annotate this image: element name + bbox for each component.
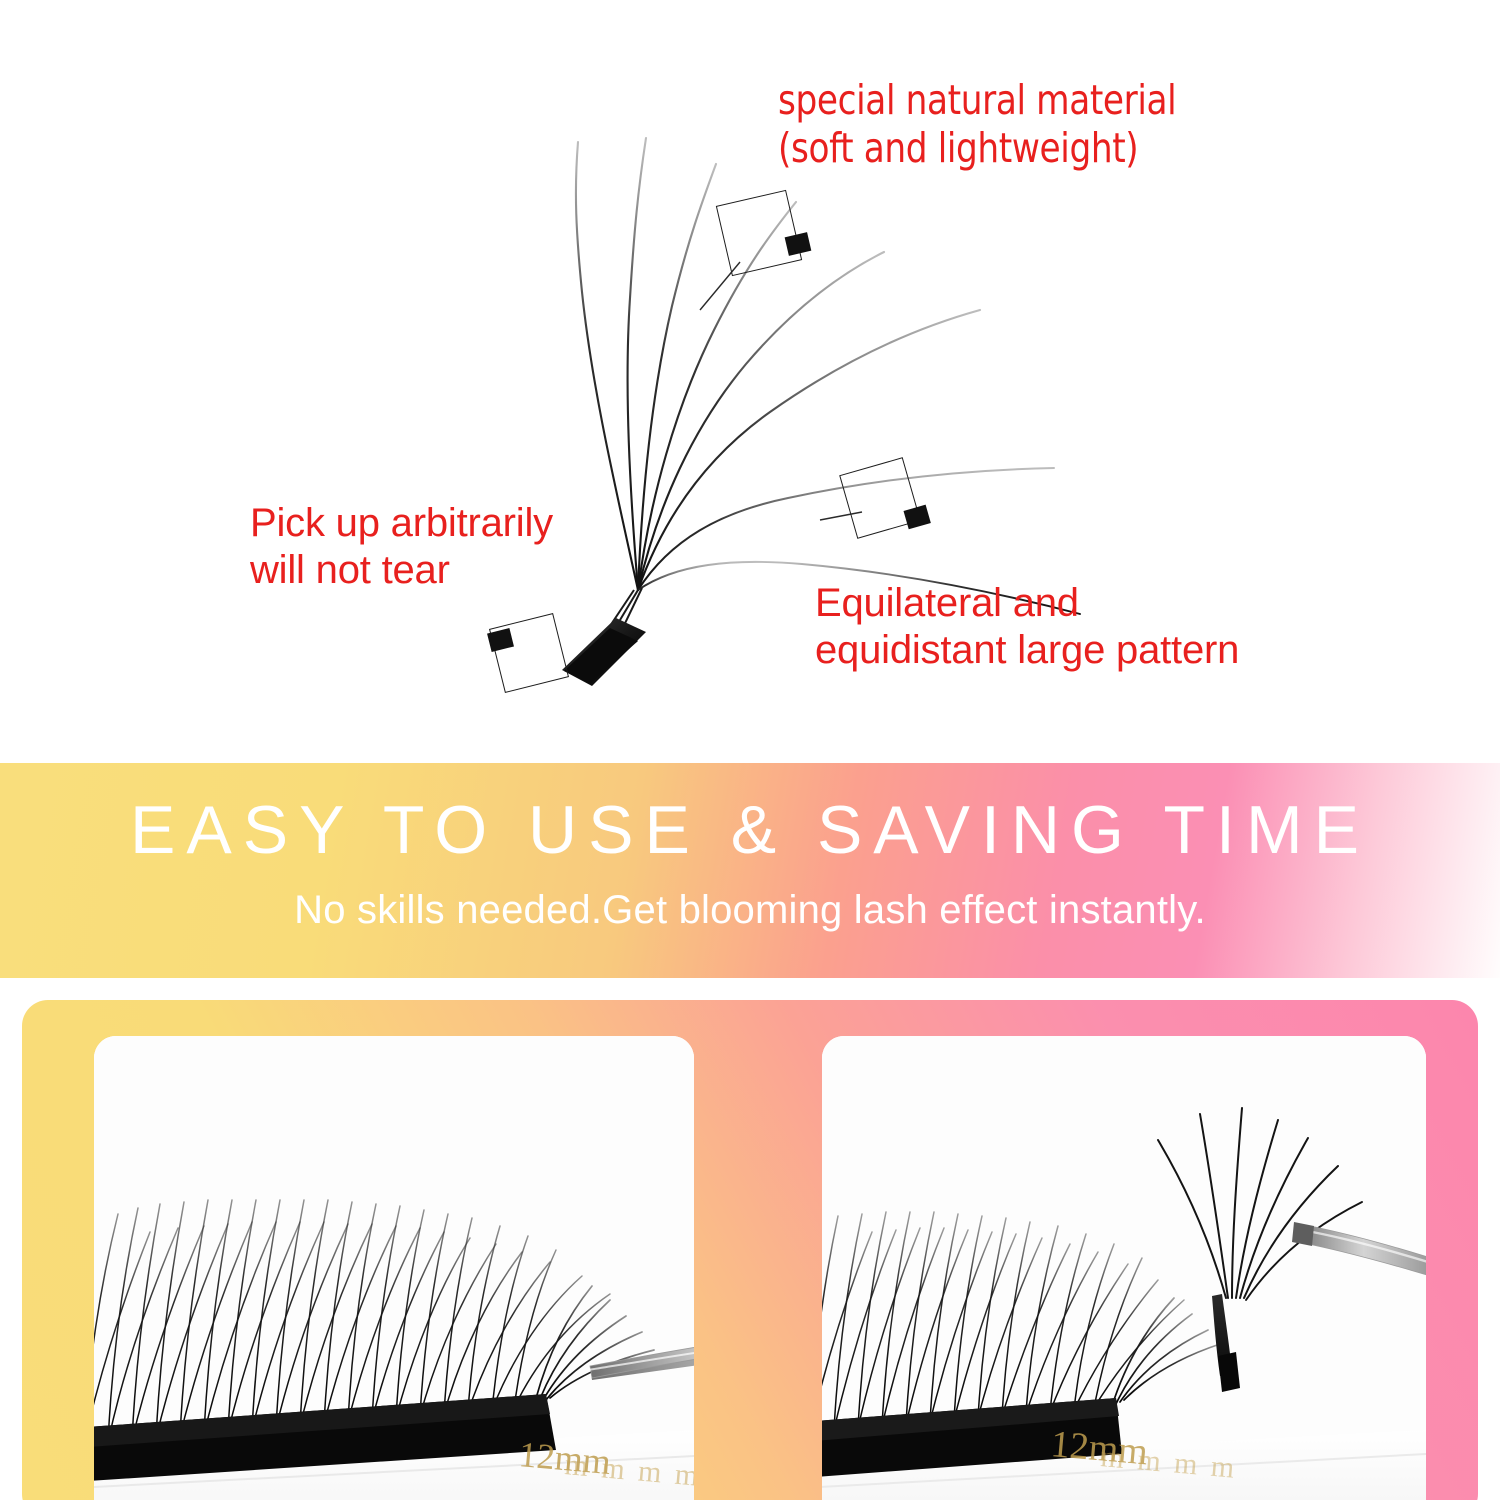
marker-dot-icon — [487, 628, 514, 652]
callout-special-natural-material: special natural material (soft and light… — [778, 76, 1176, 173]
banner-subheadline: No skills needed.Get blooming lash effec… — [0, 888, 1500, 933]
product-marketing-image: special natural material (soft and light… — [0, 0, 1500, 1500]
headline-banner: EASY TO USE & SAVING TIME No skills need… — [0, 763, 1500, 978]
lash-strip-graphic: 12mm m m m m — [94, 1036, 694, 1500]
callout-equilateral-equidistant: Equilateral and equidistant large patter… — [815, 580, 1239, 674]
panel-left-scene: 12mm m m m m — [94, 1036, 694, 1500]
lash-fan-lifted-by-tweezers-photo: 12mm m m m m — [822, 1036, 1426, 1500]
panel-right-scene: 12mm m m m m — [822, 1036, 1426, 1500]
feature-diagram-section: special natural material (soft and light… — [0, 0, 1500, 763]
lash-strip-with-tweezers-photo: 12mm m m m m — [94, 1036, 694, 1500]
banner-headline: EASY TO USE & SAVING TIME — [0, 791, 1500, 869]
callout-pick-up-arbitrarily: Pick up arbitrarily will not tear — [250, 500, 553, 594]
photo-gallery-frame: 12mm m m m m — [22, 1000, 1478, 1500]
lash-fan-pickup-graphic: 12mm m m m m — [822, 1036, 1426, 1500]
